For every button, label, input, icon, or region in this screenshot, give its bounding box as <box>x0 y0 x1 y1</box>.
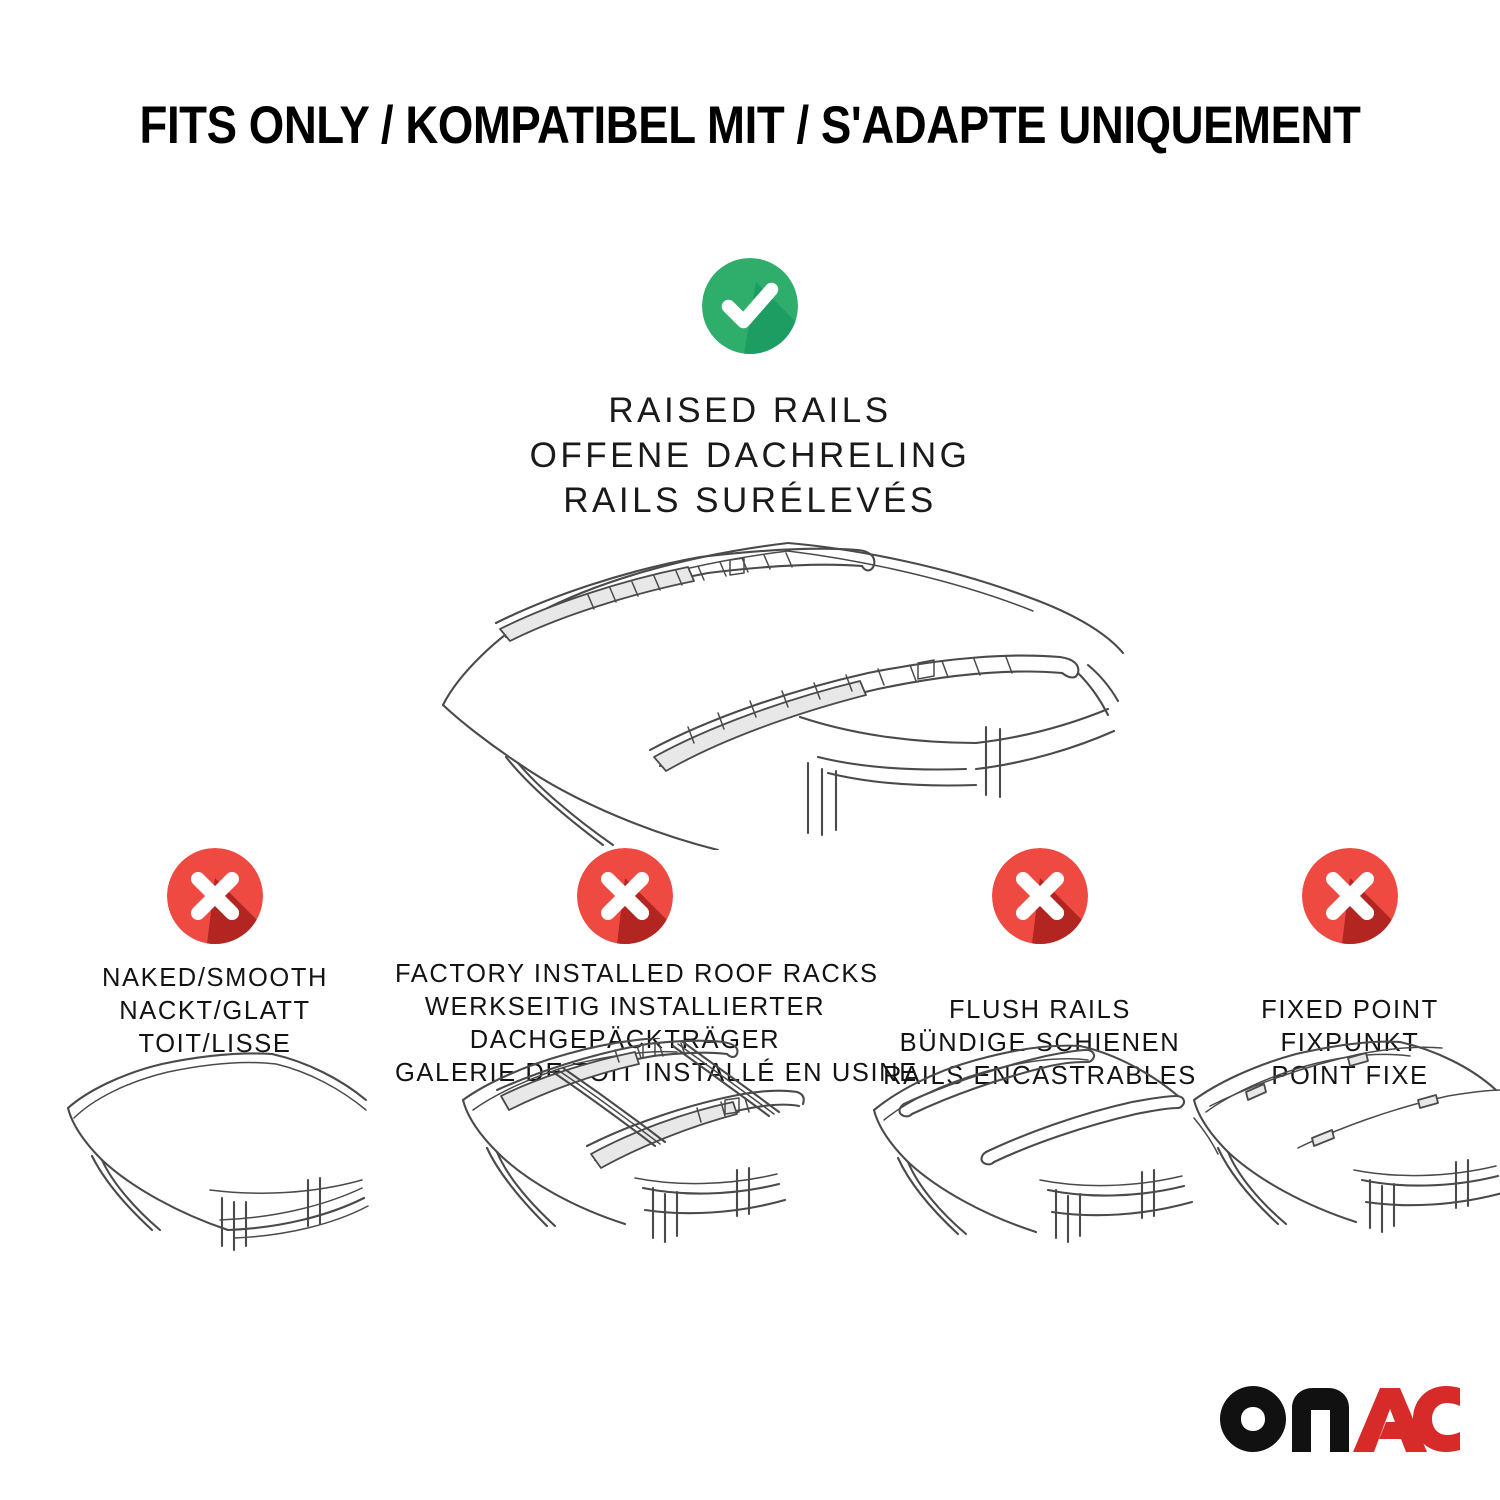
label-line-de: NACKT/GLATT <box>55 995 375 1028</box>
x-circle-icon-wrap <box>875 848 1205 958</box>
incompatible-item-flush-rails: FLUSH RAILS BÜNDIGE SCHIENEN RAILS ENCAS… <box>875 848 1205 1093</box>
label-line-de: WERKSEITIG INSTALLIERTER <box>395 991 855 1024</box>
compatible-section: RAISED RAILS OFFENE DACHRELING RAILS SUR… <box>0 258 1500 523</box>
car-roof-naked-smooth-illustration <box>50 1038 380 1268</box>
page-title: FITS ONLY / KOMPATIBEL MIT / S'ADAPTE UN… <box>105 98 1395 154</box>
car-roof-fixed-point-illustration <box>1180 1038 1500 1268</box>
label-line-en: FLUSH RAILS <box>875 994 1205 1027</box>
compatible-label-de: OFFENE DACHRELING <box>0 434 1500 479</box>
label-line-en: FIXED POINT <box>1215 994 1485 1027</box>
car-roof-flush-rails-illustration <box>860 1038 1220 1268</box>
incompatible-item-naked-smooth: NAKED/SMOOTH NACKT/GLATT TOIT/LISSE <box>55 848 375 1061</box>
x-circle-icon <box>167 848 263 944</box>
check-circle-icon <box>702 258 798 354</box>
x-circle-icon <box>992 848 1088 944</box>
car-roof-raised-rails-illustration <box>388 505 1128 850</box>
page-header: FITS ONLY / KOMPATIBEL MIT / S'ADAPTE UN… <box>0 98 1500 154</box>
compatible-label-en: RAISED RAILS <box>0 389 1500 434</box>
omac-logo <box>1220 1386 1460 1452</box>
incompatible-item-factory-roof-racks: FACTORY INSTALLED ROOF RACKS WERKSEITIG … <box>395 848 855 1091</box>
x-circle-icon <box>577 848 673 944</box>
incompatible-item-fixed-point: FIXED POINT FIXPUNKT POINT FIXE <box>1215 848 1485 1093</box>
car-roof-factory-roof-racks-illustration <box>445 1038 805 1268</box>
x-circle-icon-wrap <box>395 848 855 958</box>
x-circle-icon-wrap <box>1215 848 1485 958</box>
label-line-en: NAKED/SMOOTH <box>55 962 375 995</box>
compatible-label: RAISED RAILS OFFENE DACHRELING RAILS SUR… <box>0 389 1500 523</box>
x-circle-icon <box>1302 848 1398 944</box>
label-line-en: FACTORY INSTALLED ROOF RACKS <box>395 958 855 991</box>
incompatible-section: NAKED/SMOOTH NACKT/GLATT TOIT/LISSE <box>0 848 1500 1468</box>
x-circle-icon-wrap <box>55 848 375 958</box>
